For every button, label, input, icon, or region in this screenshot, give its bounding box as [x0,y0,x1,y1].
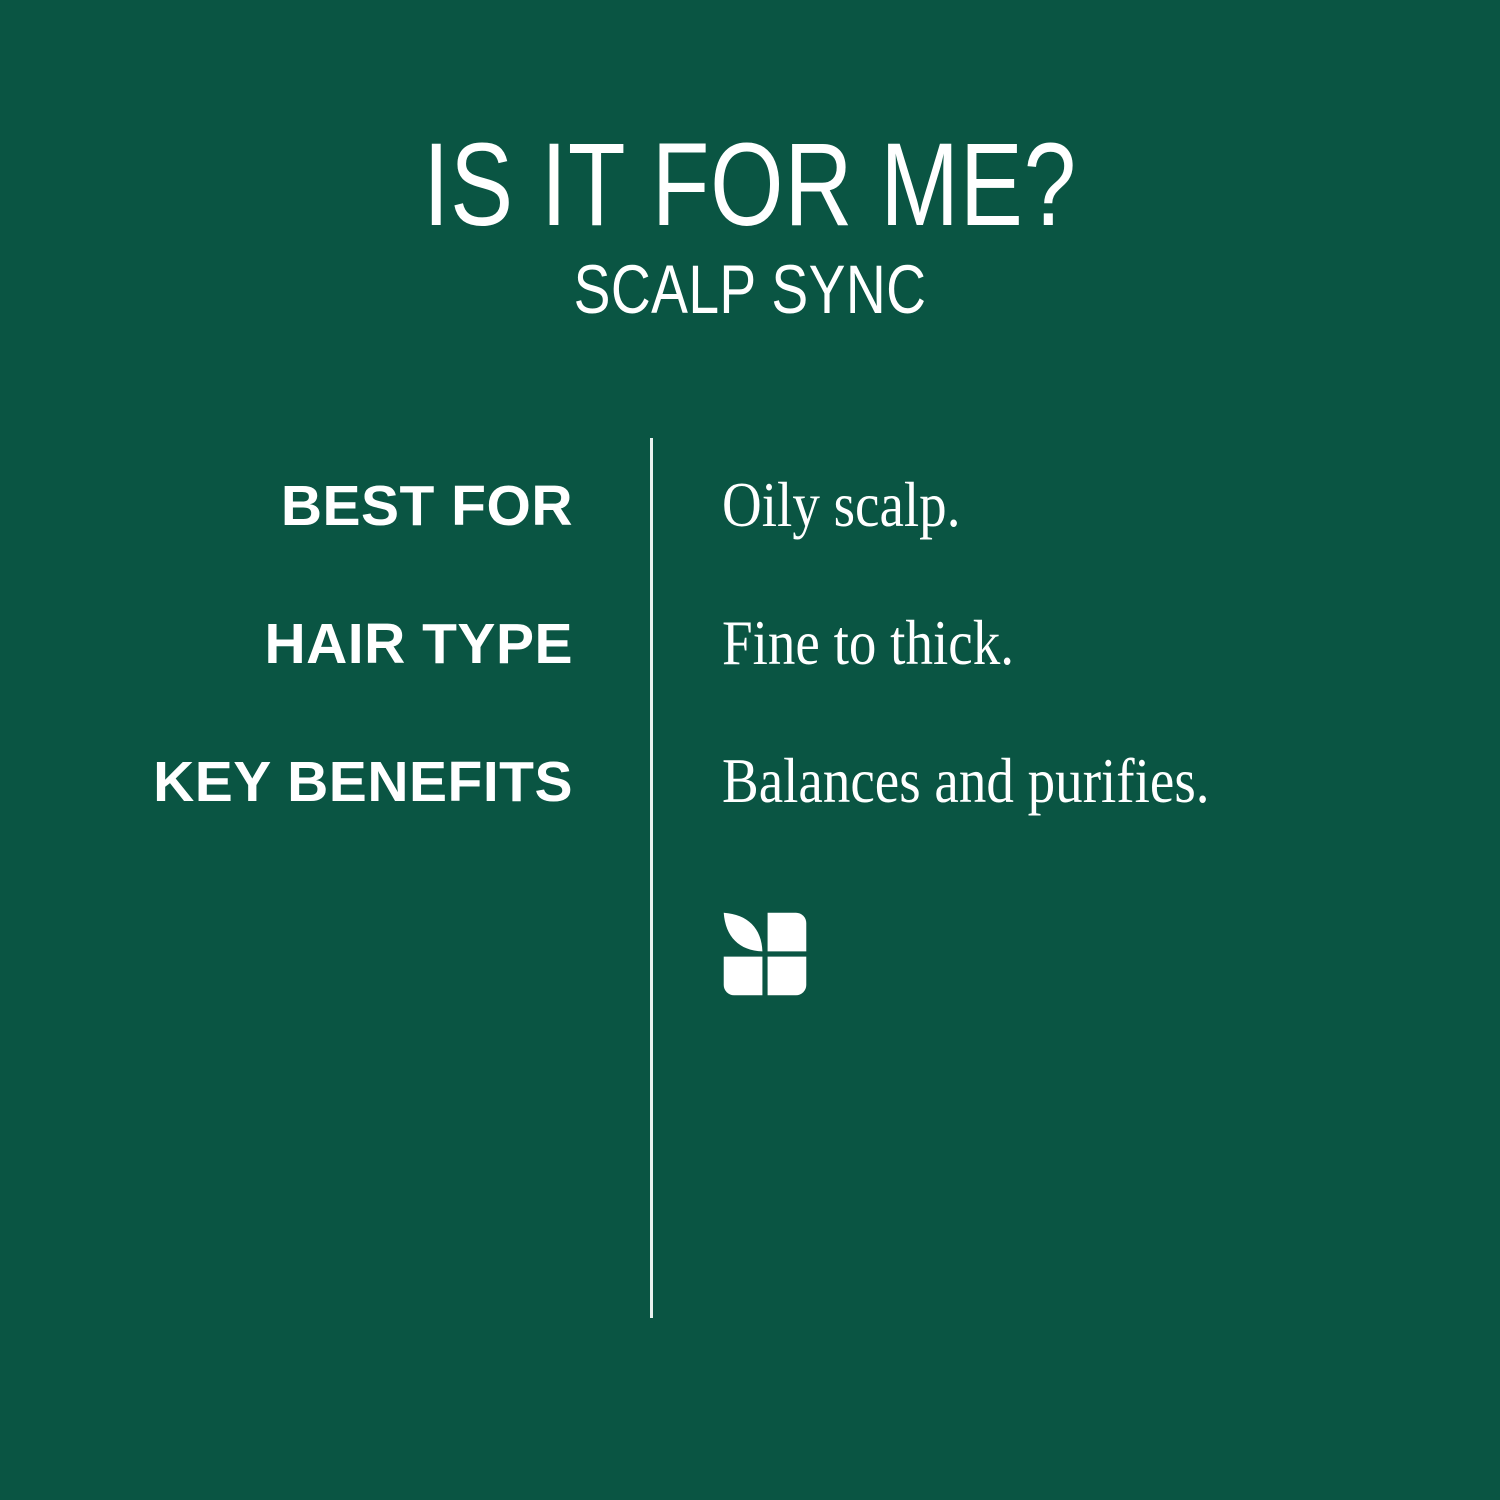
spec-value-key-benefits: Balances and purifies. [722,749,1210,813]
page-title: IS IT FOR ME? [150,126,1350,244]
spec-row: KEY BENEFITS Balances and purifies. [0,752,1500,812]
spec-label-best-for: BEST FOR [100,476,573,536]
spec-label-hair-type: HAIR TYPE [100,614,573,674]
leaf-grid-logo-icon [722,911,808,997]
product-name-subtitle: SCALP SYNC [150,255,1350,324]
vertical-divider [650,438,653,1318]
product-info-card: IS IT FOR ME? SCALP SYNC BEST FOR Oily s… [0,0,1500,1500]
spec-value-hair-type: Fine to thick. [722,611,1014,675]
spec-label-key-benefits: KEY BENEFITS [100,752,573,812]
spec-value-best-for: Oily scalp. [722,473,960,537]
spec-row: HAIR TYPE Fine to thick. [0,614,1500,674]
spec-row: BEST FOR Oily scalp. [0,476,1500,536]
